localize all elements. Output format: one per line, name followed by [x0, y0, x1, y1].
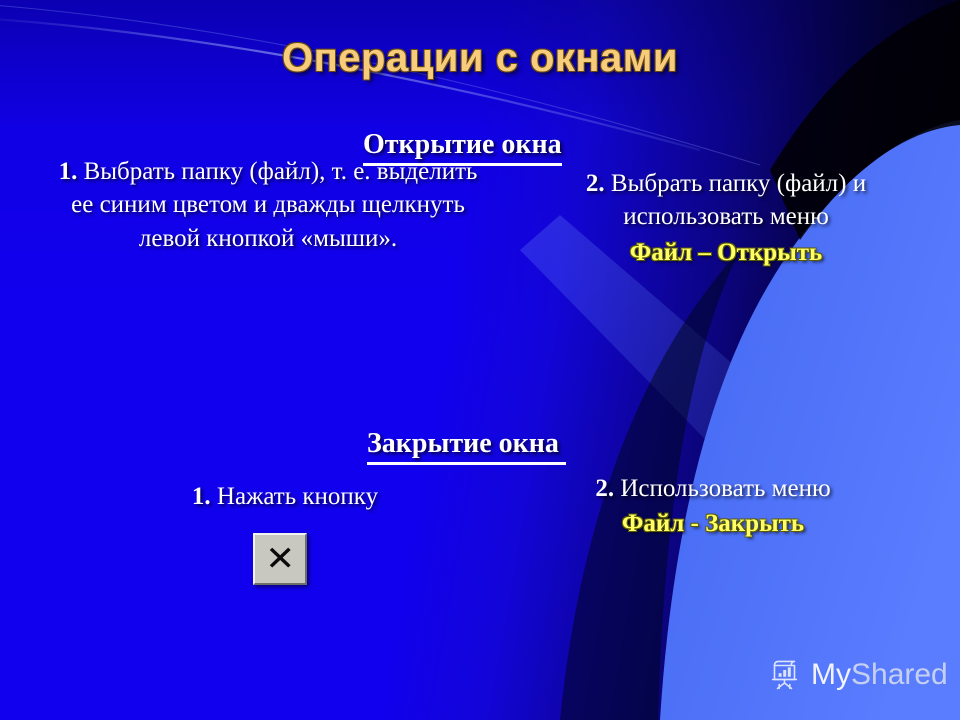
window-close-button[interactable]: ✕: [253, 533, 307, 585]
watermark-text-secondary: Shared: [851, 658, 948, 691]
item-open-1-number: 1.: [59, 158, 78, 185]
slide-canvas: Операции с окнами Открытие окна 1. Выбра…: [0, 0, 960, 720]
item-close-1-text: Нажать кнопку: [211, 483, 378, 510]
item-open-2-text: Выбрать папку (файл) и использовать меню: [605, 170, 866, 230]
item-open-2-number: 2.: [586, 170, 605, 197]
item-close-2-menu-path: Файл - Закрыть: [548, 507, 878, 540]
close-x-icon: ✕: [265, 542, 295, 576]
item-close-2-text: Использовать меню: [614, 475, 831, 502]
item-close-1-number: 1.: [192, 483, 211, 510]
myshared-watermark: MyShared: [768, 658, 948, 692]
item-open-2-menu-path: Файл – Открыть: [540, 236, 912, 269]
section-heading-close-label: Закрытие окна: [367, 428, 566, 465]
presentation-board-icon: [768, 659, 802, 691]
item-close-1: 1. Нажать кнопку: [140, 480, 430, 513]
item-close-2: 2. Использовать меню Файл - Закрыть: [548, 472, 878, 541]
item-open-1: 1. Выбрать папку (файл), т. е. выделить …: [58, 155, 478, 255]
item-open-1-text: Выбрать папку (файл), т. е. выделить ее …: [71, 158, 477, 252]
item-close-2-number: 2.: [595, 475, 614, 502]
item-open-2: 2. Выбрать папку (файл) и использовать м…: [540, 167, 912, 269]
watermark-text: MyShared: [811, 658, 948, 692]
watermark-text-primary: My: [811, 658, 851, 691]
slide-title: Операции с окнами: [0, 36, 960, 81]
